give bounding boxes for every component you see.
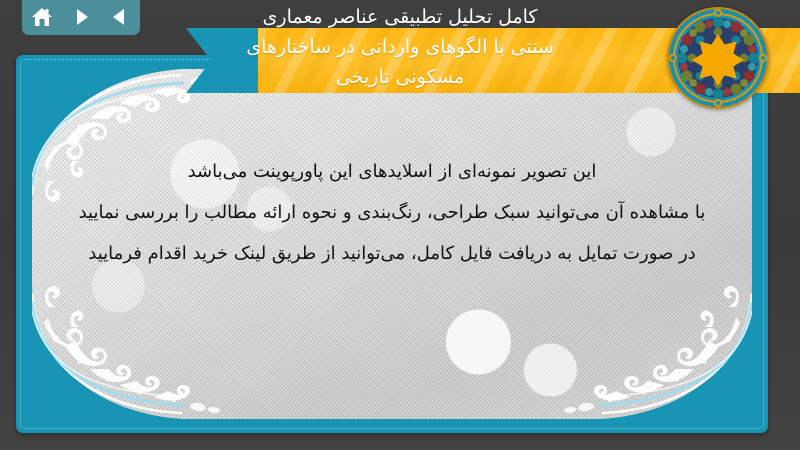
mandala-medallion-icon	[666, 6, 770, 110]
title-line-2: سنتی با الگوهای وارداتی در ساختارهای	[120, 32, 680, 62]
arabesque-corner-bottom-right-icon	[552, 284, 752, 419]
title-line-3: مسکونی تاریخی	[120, 62, 680, 92]
nav-home-button[interactable]	[29, 5, 55, 29]
decorative-frame: این تصویر نمونه‌ای از اسلایدهای این پاور…	[16, 55, 768, 433]
navigation-bar[interactable]	[22, 0, 140, 35]
slide-body-text: این تصویر نمونه‌ای از اسلایدهای این پاور…	[72, 151, 712, 274]
page-title: کامل تحلیل تطبیقی عناصر معماری سنتی با ا…	[120, 2, 680, 92]
home-icon	[31, 7, 53, 27]
body-line-2: با مشاهده آن می‌توانید سبک طراحی، رنگ‌بن…	[72, 192, 712, 233]
body-line-1: این تصویر نمونه‌ای از اسلایدهای این پاور…	[72, 151, 712, 192]
title-line-1: کامل تحلیل تطبیقی عناصر معماری	[120, 2, 680, 32]
presentation-slide: این تصویر نمونه‌ای از اسلایدهای این پاور…	[0, 0, 800, 450]
nav-forward-button[interactable]	[68, 5, 94, 29]
arabesque-corner-bottom-left-icon	[32, 284, 232, 419]
body-line-3: در صورت تمایل به دریافت فایل کامل، می‌تو…	[72, 233, 712, 274]
triangle-right-icon	[71, 7, 91, 27]
triangle-left-icon	[110, 7, 130, 27]
nav-back-button[interactable]	[107, 5, 133, 29]
content-panel: این تصویر نمونه‌ای از اسلایدهای این پاور…	[32, 69, 752, 419]
